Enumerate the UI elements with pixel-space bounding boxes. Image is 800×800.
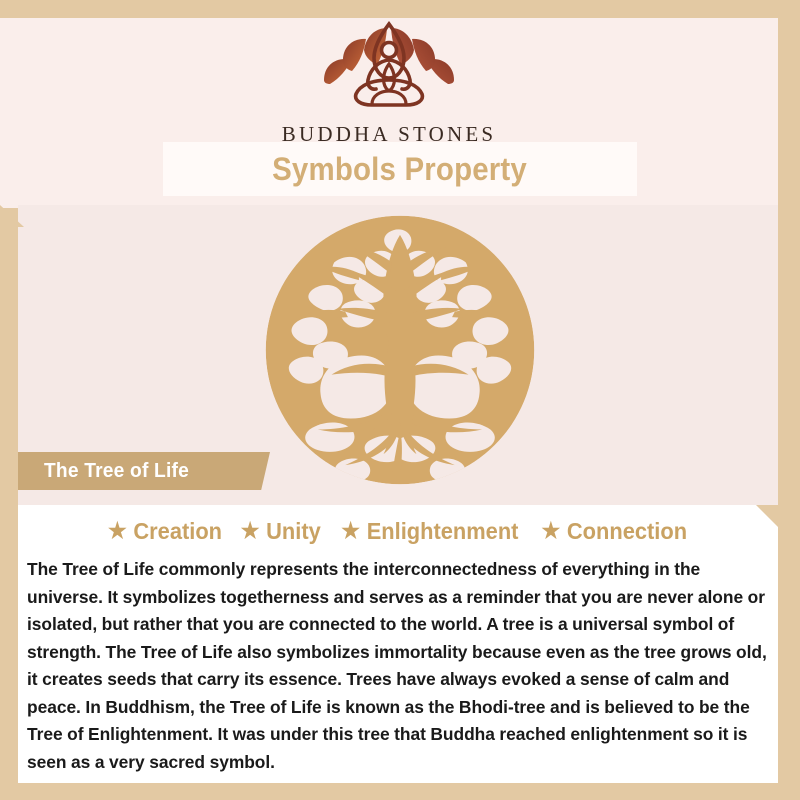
keyword-item-unity: ★ Unity xyxy=(228,518,321,545)
star-icon: ★ xyxy=(342,520,361,542)
keyword-list: ★ Creation ★ Unity ★ Enlightenment ★ Con… xyxy=(18,513,778,549)
keyword-label: Enlightenment xyxy=(367,518,519,545)
tree-of-life-icon xyxy=(263,213,537,487)
page-title: Symbols Property xyxy=(273,151,528,188)
keyword-label: Creation xyxy=(133,518,222,545)
star-icon: ★ xyxy=(108,520,127,542)
keyword-label: Connection xyxy=(567,518,687,545)
title-banner: Symbols Property xyxy=(163,142,637,196)
star-icon: ★ xyxy=(241,520,260,542)
keyword-item-connection: ★ Connection xyxy=(528,518,687,545)
keyword-item-creation: ★ Creation xyxy=(108,518,222,545)
section-label-banner: The Tree of Life xyxy=(18,452,270,490)
section-label: The Tree of Life xyxy=(44,460,189,483)
tree-of-life-emblem xyxy=(263,213,537,487)
lotus-meditation-figure-icon xyxy=(294,20,484,120)
description-paragraph: The Tree of Life commonly represents the… xyxy=(27,556,771,776)
star-icon: ★ xyxy=(541,520,560,542)
brand-logo-block: BUDDHA STONES xyxy=(0,20,778,147)
keyword-item-enlightenment: ★ Enlightenment xyxy=(328,518,518,545)
infographic-page: BUDDHA STONES Symbols Property xyxy=(0,0,800,800)
keyword-label: Unity xyxy=(266,518,321,545)
